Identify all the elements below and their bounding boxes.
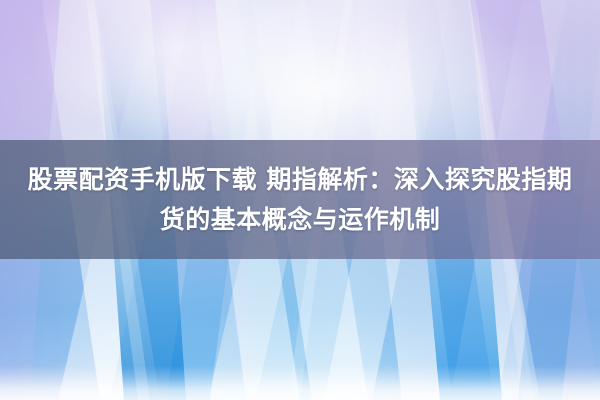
bottom-haze-overlay [0,366,600,400]
headline-band: 股票配资手机版下载 期指解析：深入探究股指期 货的基本概念与运作机制 [0,140,600,259]
promo-banner: 股票配资手机版下载 期指解析：深入探究股指期 货的基本概念与运作机制 [0,0,600,400]
headline-line-2: 货的基本概念与运作机制 [160,200,441,240]
headline-line-1: 股票配资手机版下载 期指解析：深入探究股指期 [28,160,573,200]
